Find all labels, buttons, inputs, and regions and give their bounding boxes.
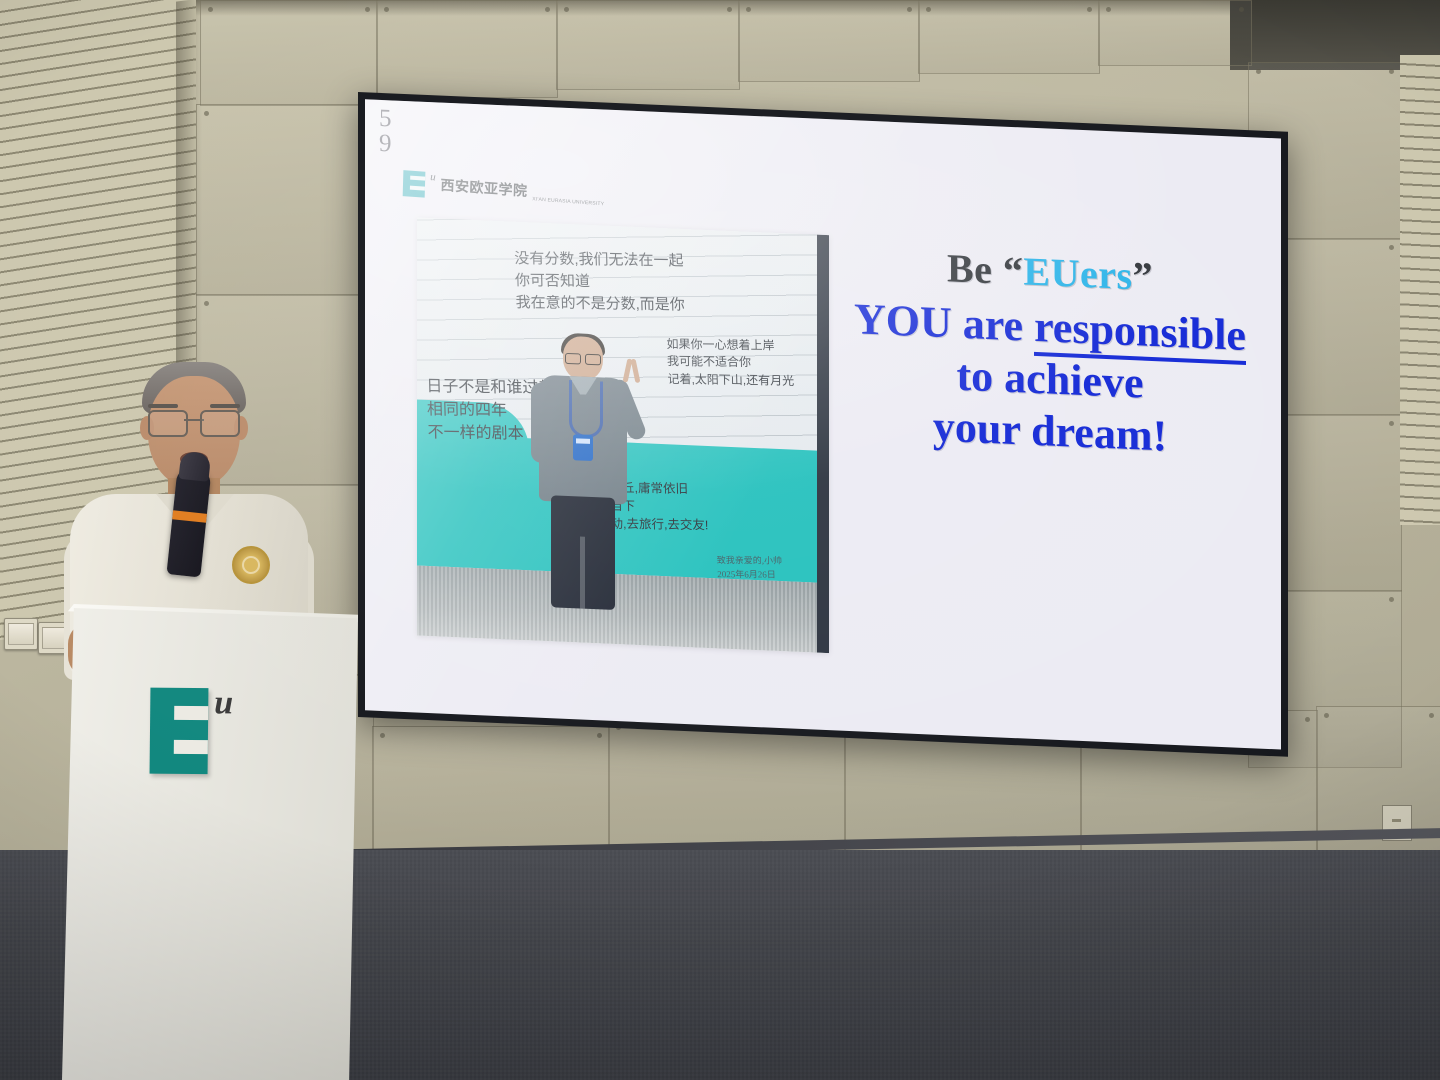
- brand-name-cn: 西安欧亚学院: [440, 175, 528, 201]
- photo-signature: 致我亲爱的,小帅 2025年6月26日: [717, 554, 818, 582]
- slide-photo: 没有分数,我们无法在一起 你可否知道 我在意的不是分数,而是你 日子不是和谁过都…: [417, 218, 829, 654]
- photo-person-glasses-icon: [565, 353, 601, 364]
- eurasia-e-icon: [403, 170, 426, 198]
- photo-person: [529, 334, 637, 617]
- photo-person-trousers: [551, 495, 615, 610]
- wall-panel: [196, 104, 374, 296]
- headline-body: YOU are responsible to achieve your drea…: [835, 292, 1265, 466]
- photo-person-peace-sign: [623, 354, 641, 383]
- wall-panel: [376, 0, 558, 98]
- wall-panel: [556, 0, 740, 90]
- podium-e-icon: [150, 688, 209, 775]
- lectern-podium: [62, 608, 358, 1080]
- brand-name-en: XI'AN EURASIA UNIVERSITY: [532, 196, 604, 207]
- photo-person-badge: [573, 434, 593, 461]
- wall-panel: [1098, 0, 1252, 66]
- right-slat-wall: [1400, 55, 1440, 525]
- presentation-photo-scene: 5 9 u 西安欧亚学院 XI'AN EURASIA UNIVERSITY 没有…: [0, 0, 1440, 1080]
- glasses-icon: [148, 410, 240, 434]
- wall-panel: [1316, 706, 1440, 866]
- speaker-right-eyebrow: [210, 404, 240, 408]
- wall-panel: [918, 0, 1100, 74]
- photo-person-lanyard: [569, 380, 603, 438]
- wall-panel: [738, 0, 920, 82]
- slide-number: 5 9: [379, 106, 392, 157]
- slide-number-bottom: 9: [379, 131, 392, 157]
- slide-number-top: 5: [379, 106, 392, 132]
- headline-line-2-lead: YOU are: [854, 294, 1034, 351]
- slide-brand-logo: u 西安欧亚学院 XI'AN EURASIA UNIVERSITY: [403, 170, 605, 210]
- projection-screen-frame: 5 9 u 西安欧亚学院 XI'AN EURASIA UNIVERSITY 没有…: [358, 92, 1288, 757]
- photo-quote-top: 没有分数,我们无法在一起 你可否知道 我在意的不是分数,而是你: [514, 248, 685, 316]
- wall-switch-panel[interactable]: [4, 618, 38, 650]
- photo-right-edge: [817, 235, 829, 654]
- podium-u-superscript: u: [214, 684, 233, 722]
- speaker-left-eyebrow: [148, 404, 178, 408]
- podium-logo: u: [150, 688, 234, 775]
- headline-suffix: ”: [1133, 253, 1154, 299]
- headline-highlight: EUers: [1023, 248, 1132, 298]
- wall-panel: [200, 0, 378, 106]
- shirt-emblem-icon: [232, 546, 270, 584]
- eurasia-u-superscript: u: [430, 171, 436, 183]
- slide-headline: Be “EUers” YOU are responsible to achiev…: [835, 239, 1265, 466]
- projection-screen: 5 9 u 西安欧亚学院 XI'AN EURASIA UNIVERSITY 没有…: [365, 99, 1281, 749]
- headline-prefix: Be “: [947, 245, 1023, 293]
- microphone-band: [172, 510, 207, 523]
- photo-quote-right: 如果你一心想着上岸 我可能不适合你 记着,太阳下山,还有月光: [666, 336, 794, 390]
